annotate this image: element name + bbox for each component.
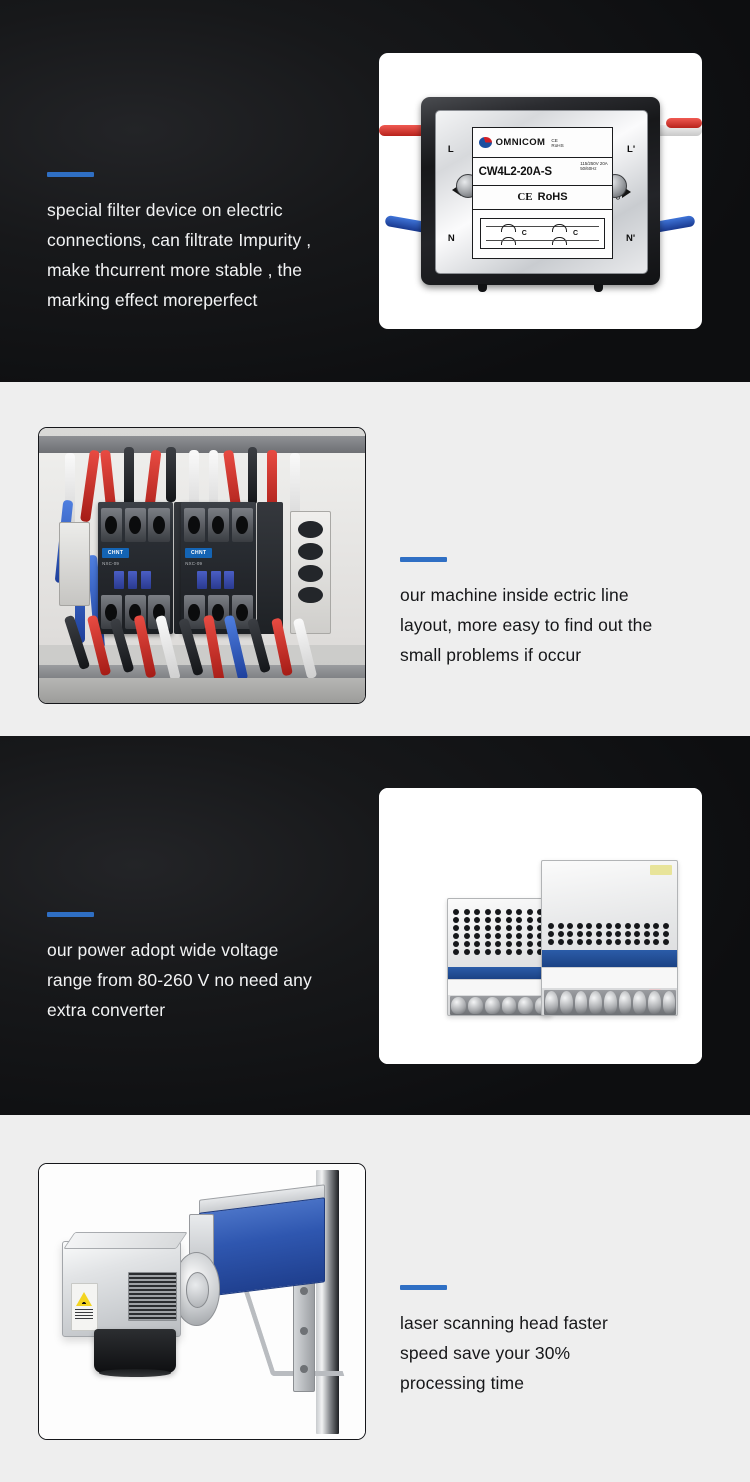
ce-mark-icon: CE (517, 191, 532, 203)
model-number: CW4L2-20A-S (479, 166, 552, 178)
terminal-port (232, 508, 253, 542)
wire-red-load-out (666, 118, 702, 128)
upper-din-rail (39, 436, 365, 453)
control-cabinet-wiring-photo: CHNT NXC-09 (39, 428, 365, 703)
terminal-label-l-prime: L' (627, 144, 635, 155)
laser-warning-label (71, 1283, 98, 1331)
inductor-symbol (552, 224, 567, 232)
terminal-port (184, 508, 205, 542)
contactor-actuator (211, 571, 221, 589)
feature-text-block-wiring: our machine inside ectric line layout, m… (400, 557, 700, 670)
circuit-breaker (290, 511, 331, 634)
product-label-strip (448, 967, 551, 980)
contactor-actuator (224, 571, 234, 589)
feature-text-block-filter: special filter device on electric connec… (47, 172, 357, 315)
terminal-label-n-prime: N' (626, 233, 635, 244)
rohs-label: RoHS (538, 191, 568, 203)
ventilation-holes (453, 909, 546, 955)
feature-image-card-wiring: CHNT NXC-09 (38, 427, 366, 704)
feature-section-scanner: laser scanning head faster speed save yo… (0, 1115, 750, 1482)
contactor-actuator (141, 571, 151, 589)
laser-radiation-warning-icon (76, 1292, 92, 1306)
contactor-top-terminals (101, 508, 170, 542)
contactor-actuator (114, 571, 124, 589)
feature-description-filter: special filter device on electric connec… (47, 195, 357, 315)
accent-bar-filter (47, 172, 94, 177)
ventilation-holes (548, 923, 670, 945)
contactor-actuator (197, 571, 207, 589)
heatsink-fins (128, 1272, 177, 1321)
electrical-rating: 115/250V 20A 50/60Hz (580, 161, 608, 173)
feature-description-wiring: our machine inside ectric line layout, m… (400, 580, 700, 670)
accent-bar-power (47, 912, 94, 917)
terminal-port (125, 508, 146, 542)
bracket-rail (293, 1274, 315, 1392)
warning-text-lines (75, 1309, 93, 1319)
inductor-symbol (501, 224, 516, 232)
screw-terminal-strip (544, 990, 676, 1015)
feature-text-block-scanner: laser scanning head faster speed save yo… (400, 1285, 700, 1398)
certification-label (448, 979, 551, 995)
filter-faceplate: L L' N N' LINE LOAD (435, 110, 647, 273)
terminal-port (208, 508, 229, 542)
accent-bar-scanner (400, 1285, 447, 1290)
feature-section-power: our power adopt wide voltage range from … (0, 736, 750, 1115)
compliance-row: CE RoHS (473, 186, 612, 210)
contactor-unit: CHNT NXC-09 (181, 502, 256, 634)
model-row: CW4L2-20A-S 115/250V 20A 50/60Hz (473, 158, 612, 185)
filter-spec-label: OMNICOM CE RoHS CW4L2-20A-S 115/250V 20A… (472, 127, 613, 258)
terminal-block (59, 522, 90, 607)
terminal-label-n: N (448, 233, 455, 244)
contactor-model-label: NXC-09 (102, 561, 119, 566)
brand-name: OMNICOM (496, 137, 546, 148)
contactor-bottom-terminals (184, 595, 253, 629)
capacitor-symbol-right: C (573, 230, 578, 237)
feature-image-card-power (379, 788, 702, 1064)
inductor-symbol (552, 237, 567, 245)
power-supply-unit-large (541, 860, 679, 1017)
switching-power-supply-photo (379, 788, 702, 1064)
galvo-housing-top (63, 1232, 188, 1249)
screw-terminal-strip (450, 996, 551, 1015)
terminal-port (148, 508, 169, 542)
f-theta-lens (94, 1329, 176, 1373)
contactor-top-terminals (184, 508, 253, 542)
filter-housing: L L' N N' LINE LOAD (421, 97, 660, 285)
feature-image-card-scanner (38, 1163, 366, 1440)
terminal-label-l: L (448, 144, 454, 155)
chnt-brand-badge: CHNT (102, 548, 129, 558)
laser-scanning-head-photo (39, 1164, 365, 1439)
certification-marks: CE RoHS (551, 138, 563, 149)
accent-bar-wiring (400, 557, 447, 562)
feature-description-scanner: laser scanning head faster speed save yo… (400, 1308, 700, 1398)
certification-label (542, 967, 678, 988)
terminal-port (101, 508, 122, 542)
housing-foot (478, 284, 487, 292)
feature-section-wiring: CHNT NXC-09 (0, 382, 750, 736)
filter-circuit-schematic: C C (480, 218, 604, 250)
product-label-strip (542, 950, 678, 967)
feature-section-filter: special filter device on electric connec… (0, 0, 750, 382)
feature-description-power: our power adopt wide voltage range from … (47, 935, 367, 1025)
power-supply-unit-small (447, 898, 552, 1016)
serial-sticker (650, 865, 672, 874)
galvo-scanner-housing (62, 1241, 181, 1337)
contactor-actuator (128, 571, 138, 589)
brand-row: OMNICOM CE RoHS (473, 128, 612, 158)
schematic-row: C C (473, 210, 612, 258)
emi-power-line-filter-photo: L L' N N' LINE LOAD (379, 53, 702, 329)
housing-foot (594, 284, 603, 292)
feature-text-block-power: our power adopt wide voltage range from … (47, 912, 367, 1025)
product-feature-page: special filter device on electric connec… (0, 0, 750, 1482)
auxiliary-contact-block (257, 502, 283, 634)
omnicom-logo-icon (479, 137, 492, 148)
capacitor-symbol-left: C (522, 230, 527, 237)
chnt-brand-badge: CHNT (185, 548, 212, 558)
contactor-model-label: NXC-09 (185, 561, 202, 566)
inductor-symbol (501, 237, 516, 245)
feature-image-card-filter: L L' N N' LINE LOAD (379, 53, 702, 329)
